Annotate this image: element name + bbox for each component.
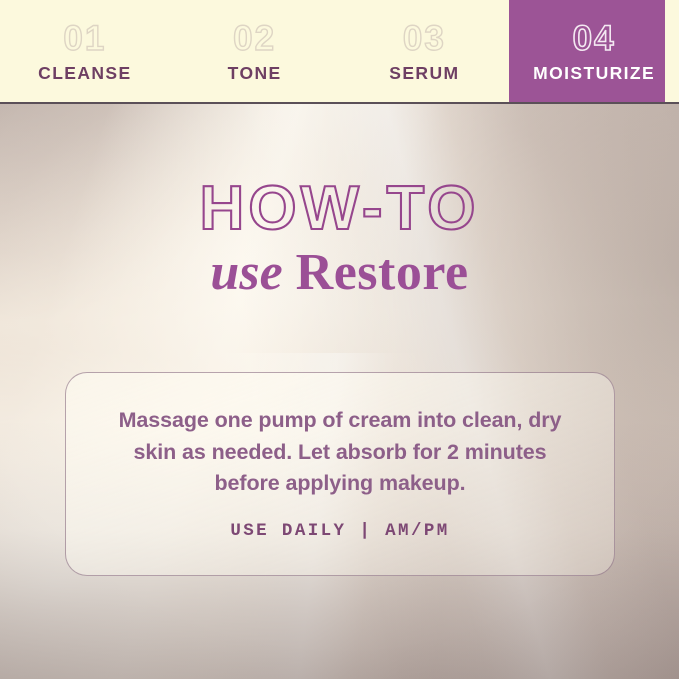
page-title: HOW-TO use Restore (0, 178, 679, 301)
step-label: SERUM (389, 65, 459, 83)
step-label: TONE (228, 65, 282, 83)
step-label: CLEANSE (38, 65, 131, 83)
step-item-moisturize[interactable]: 04 MOISTURIZE (509, 0, 679, 102)
step-number: 04 (573, 21, 616, 56)
step-label: MOISTURIZE (533, 65, 655, 83)
step-number: 01 (63, 21, 106, 56)
step-item-cleanse[interactable]: 01 CLEANSE (0, 0, 170, 102)
step-item-serum[interactable]: 03 SERUM (340, 0, 510, 102)
promo-canvas: 01 CLEANSE 02 TONE 03 SERUM 04 MOISTURIZ… (0, 0, 679, 679)
instruction-text: Massage one pump of cream into clean, dr… (114, 405, 566, 500)
instruction-card: Massage one pump of cream into clean, dr… (65, 372, 615, 576)
step-number: 02 (233, 21, 276, 56)
headline-script-line: use Restore (0, 246, 679, 301)
headline-upright-word: Restore (296, 244, 469, 301)
step-number: 03 (403, 21, 446, 56)
step-bar-edge-sliver (665, 0, 679, 102)
usage-frequency-text: USE DAILY | AM/PM (230, 521, 449, 541)
step-item-tone[interactable]: 02 TONE (170, 0, 340, 102)
routine-step-bar: 01 CLEANSE 02 TONE 03 SERUM 04 MOISTURIZ… (0, 0, 679, 104)
headline-italic-word: use (210, 244, 282, 301)
headline-outline-text: HOW-TO (0, 178, 679, 240)
